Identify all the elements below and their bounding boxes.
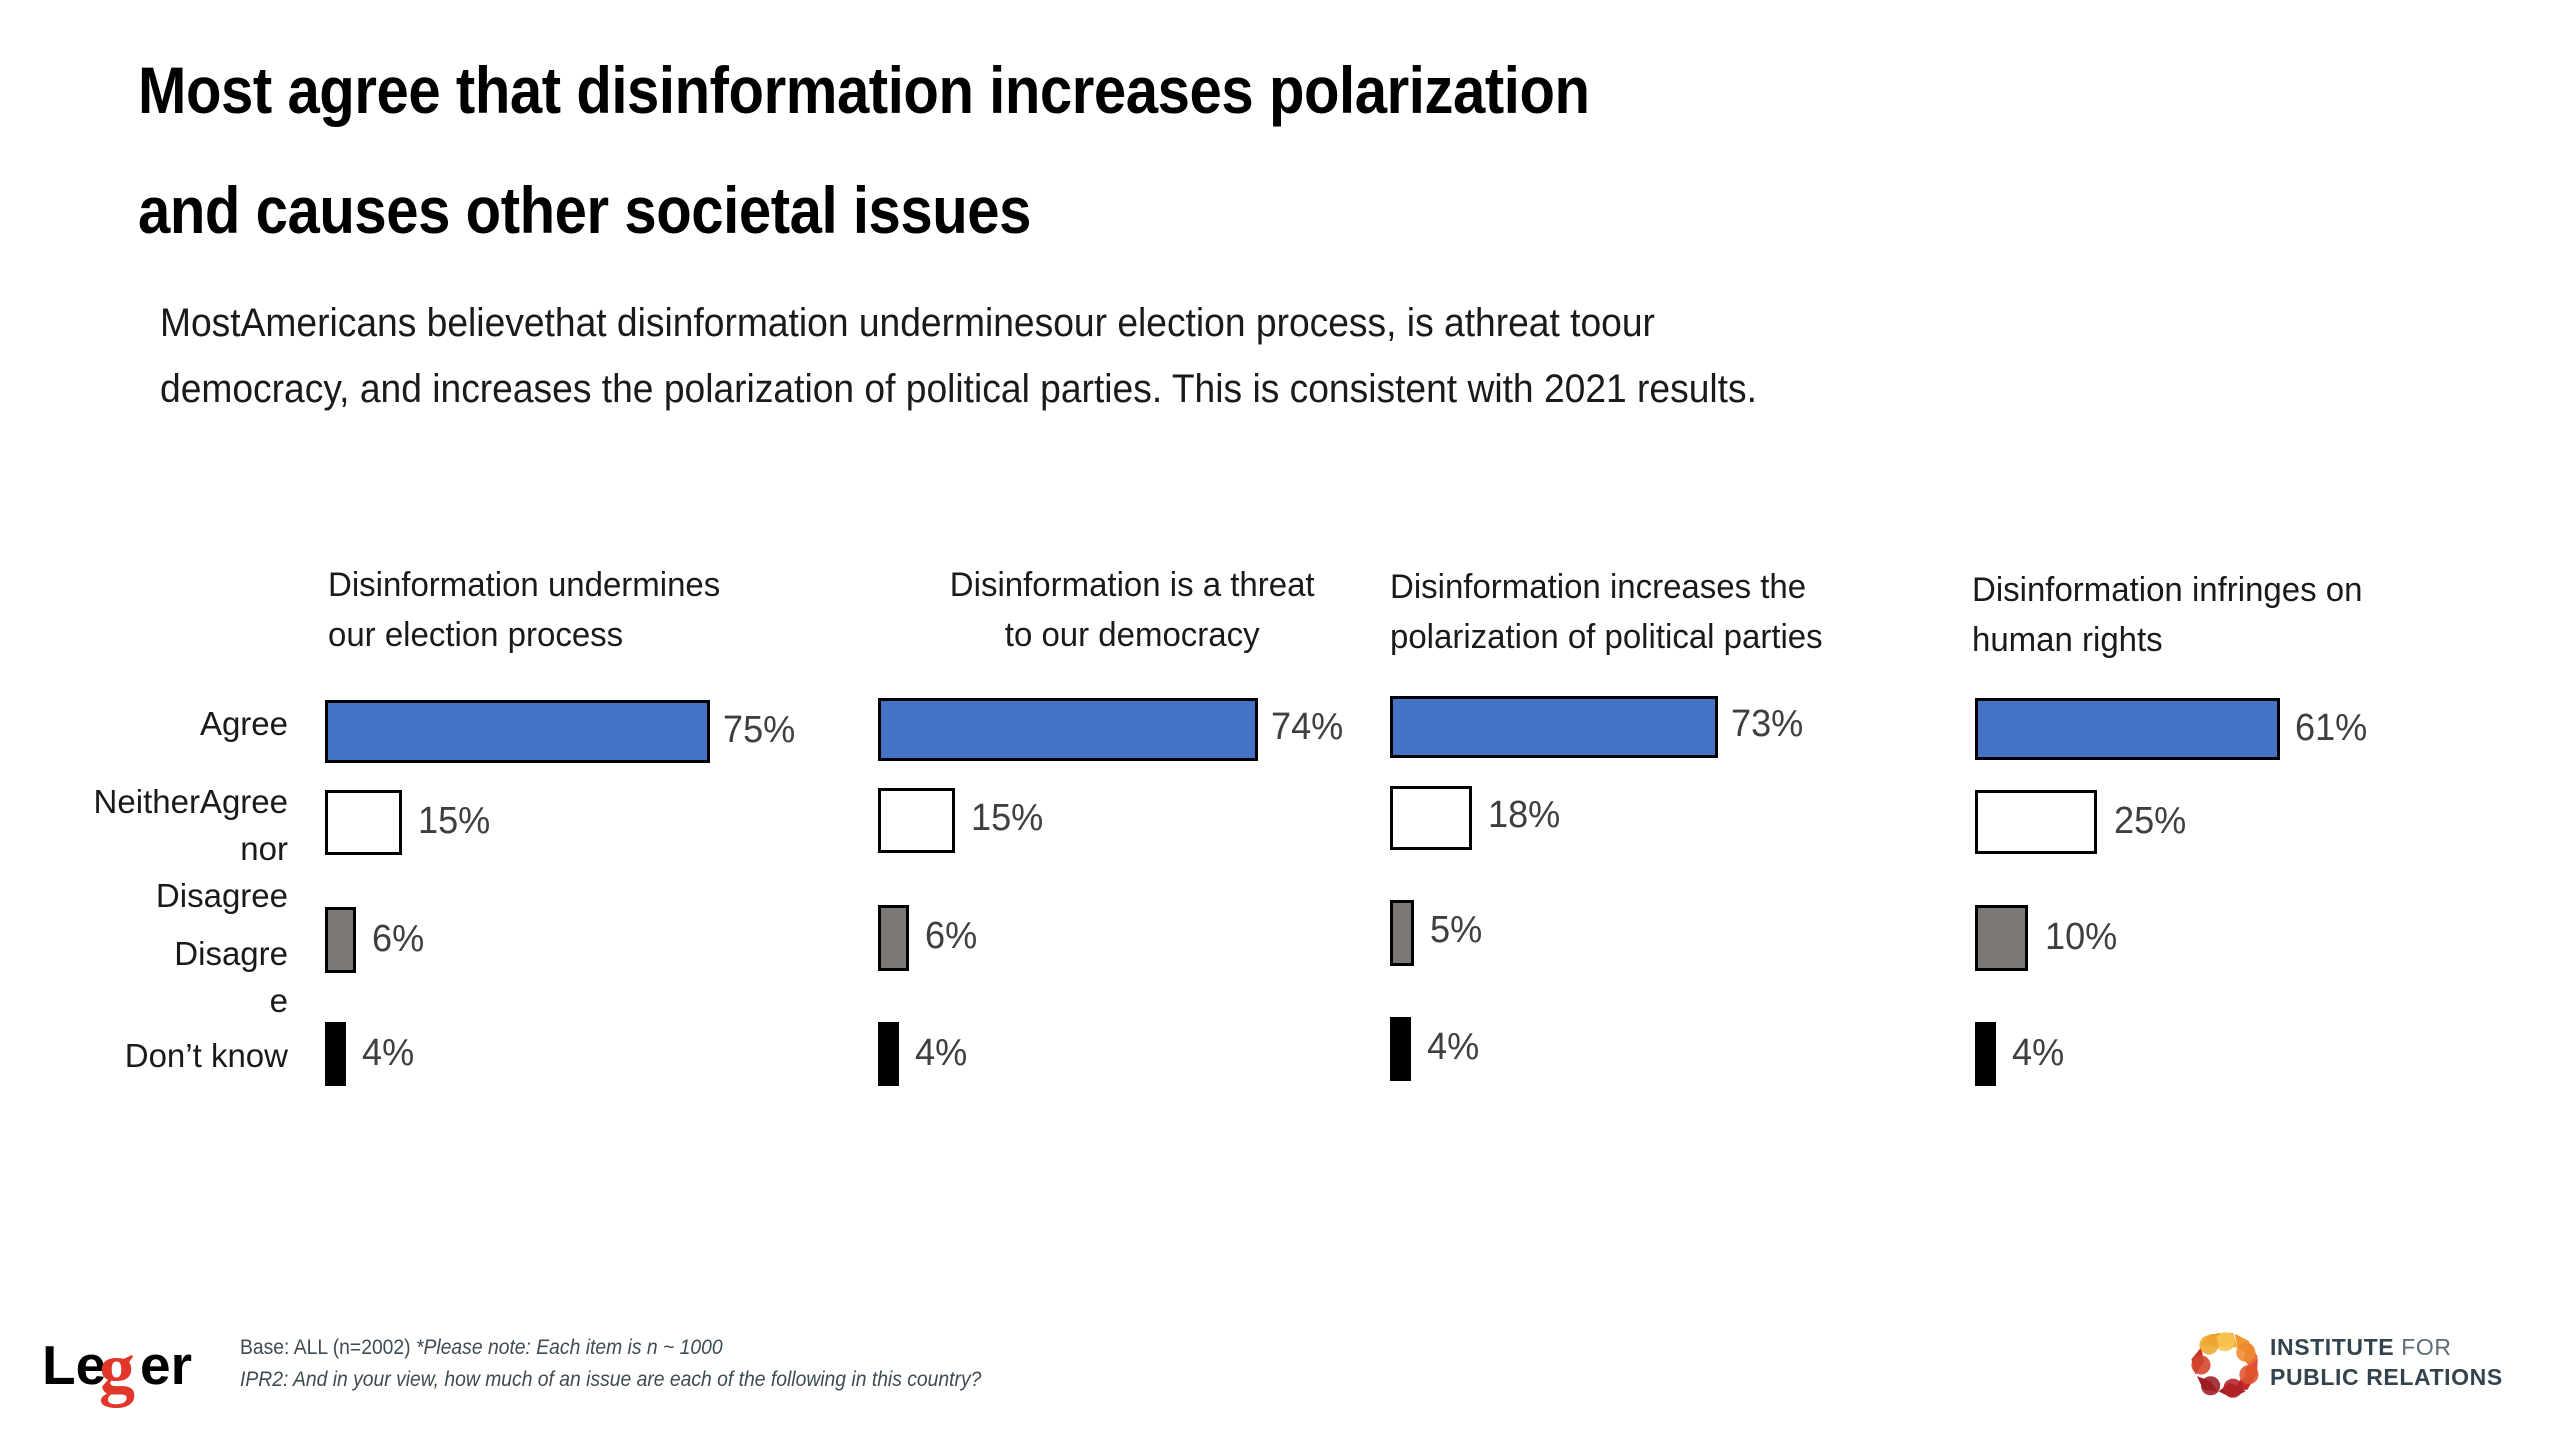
bar-value-2-dont-know: 4% [915,1032,967,1075]
bar-value-2-neither: 15% [971,797,1043,840]
bar-value-3-disagree: 5% [1430,909,1482,952]
bar-2-dont-know [878,1022,899,1086]
ipr-mandala-icon [2185,1325,2265,1405]
bar-1-disagree [325,907,356,973]
bar-3-agree [1390,696,1718,758]
leger-logo-le: Le [42,1334,106,1396]
row-label-neither: NeitherAgree nor Disagree [20,778,288,919]
footer-note-base: Base: ALL (n=2002) [240,1336,411,1359]
bar-4-neither [1975,790,2097,854]
ipr-logo-for: FOR [2401,1334,2451,1360]
bar-value-1-neither: 15% [418,800,490,843]
bar-2-disagree [878,905,909,971]
bar-value-4-agree: 61% [2295,707,2367,750]
ipr-logo: INSTITUTE FOR PUBLIC RELATIONS [2185,1322,2530,1412]
column-header-4: Disinformation infringes on human rights [1972,565,2476,665]
leger-logo-svg: Le g er [42,1332,222,1414]
leger-logo-g: g [99,1332,135,1408]
ipr-logo-text: INSTITUTE FOR PUBLIC RELATIONS [2270,1332,2503,1392]
footer-note-base-line: Base: ALL (n=2002) *Please note: Each it… [240,1332,1620,1364]
bar-value-3-dont-know: 4% [1427,1026,1479,1069]
column-header-1: Disinformation undermines our election p… [328,560,832,660]
leger-logo: Le g er [42,1332,222,1414]
column-header-2: Disinformation is a threat to our democr… [880,560,1384,660]
leger-logo-er: er [140,1334,192,1396]
bar-4-agree [1975,698,2280,760]
bar-4-dont-know [1975,1022,1996,1086]
bar-2-neither [878,788,955,853]
bar-1-agree [325,700,710,763]
bar-2-agree [878,698,1258,761]
footer-note-question: IPR2: And in your view, how much of an i… [240,1364,1620,1396]
ipr-logo-line-2: PUBLIC RELATIONS [2270,1362,2503,1392]
bar-value-3-agree: 73% [1731,703,1803,746]
ipr-logo-line-1: INSTITUTE FOR [2270,1332,2503,1362]
bar-value-4-dont-know: 4% [2012,1032,2064,1075]
bar-value-1-agree: 75% [723,709,795,752]
bar-1-neither [325,790,402,855]
bar-3-neither [1390,786,1472,850]
bar-value-3-neither: 18% [1488,794,1560,837]
bar-value-4-neither: 25% [2114,800,2186,843]
row-label-disagree: Disagre e [40,930,288,1024]
bar-chart: Disinformation undermines our election p… [0,0,2560,1440]
footer-notes: Base: ALL (n=2002) *Please note: Each it… [240,1332,1740,1396]
bar-4-disagree [1975,905,2028,971]
bar-1-dont-know [325,1022,346,1086]
bar-3-dont-know [1390,1017,1411,1081]
bar-value-1-disagree: 6% [372,918,424,961]
row-label-dont-know: Don’t know [40,1032,288,1079]
footer-note-base-italic: *Please note: Each item is n ~ 1000 [416,1336,723,1359]
column-header-3: Disinformation increases the polarizatio… [1390,562,1933,662]
row-label-agree: Agree [40,700,288,747]
bar-value-1-dont-know: 4% [362,1032,414,1075]
bar-value-2-disagree: 6% [925,915,977,958]
ipr-logo-institute: INSTITUTE [2270,1334,2394,1360]
bar-value-4-disagree: 10% [2045,916,2117,959]
bar-3-disagree [1390,900,1414,966]
bar-value-2-agree: 74% [1271,706,1343,749]
